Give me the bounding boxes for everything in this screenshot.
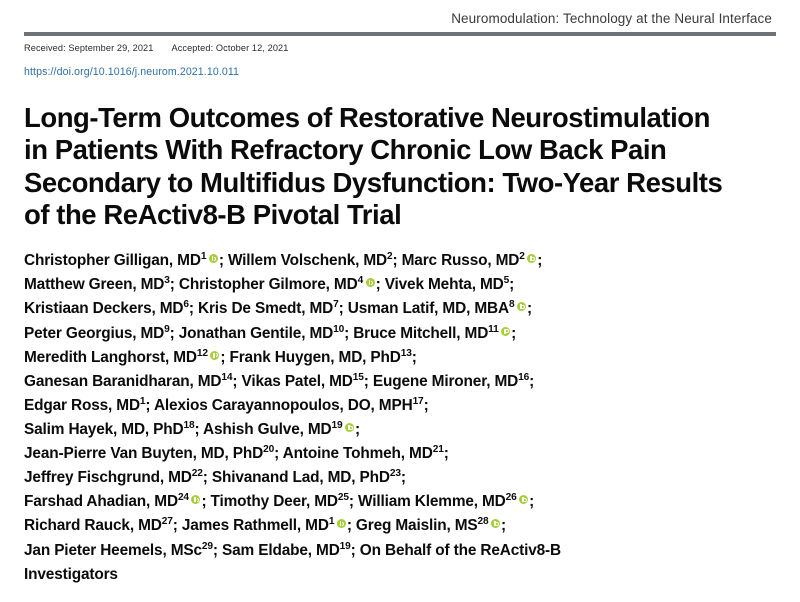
author-line: Salim Hayek, MD, PhD18; Ashish Gulve, MD… [24, 418, 776, 442]
author-separator: ; [349, 493, 358, 510]
affiliation-superscript: 13 [401, 348, 412, 359]
author-name: Kristiaan Deckers, MD [24, 300, 183, 317]
author-name: Antoine Tohmeh, MD [283, 445, 433, 462]
author-name: Vikas Patel, MD [242, 373, 353, 390]
author-line: Kristiaan Deckers, MD6; Kris De Smedt, M… [24, 297, 776, 321]
orcid-icon[interactable] [517, 302, 526, 311]
author-name: Peter Georgius, MD [24, 325, 164, 342]
affiliation-superscript: 8 [509, 299, 515, 310]
affiliation-superscript: 11 [488, 323, 498, 334]
author-name: Timothy Deer, MD [211, 493, 338, 510]
author-name: Christopher Gilligan, MD [24, 252, 201, 269]
author-separator: ; [376, 276, 385, 293]
page-title: Long-Term Outcomes of Restorative Neuros… [24, 102, 724, 231]
author-name: Investigators [24, 566, 118, 583]
author-separator: ; [355, 421, 360, 438]
author-name: On Behalf of the ReActiv8-B [360, 542, 561, 559]
affiliation-superscript: 1 [201, 251, 207, 262]
author-separator: ; [393, 252, 402, 269]
author-separator: ; [203, 469, 212, 486]
author-name: Jean-Pierre Van Buyten, MD, PhD [24, 445, 263, 462]
author-line: Richard Rauck, MD27; James Rathmell, MD1… [24, 514, 776, 538]
affiliation-superscript: 14 [221, 372, 232, 383]
author-line: Edgar Ross, MD1; Alexios Carayannopoulos… [24, 394, 776, 418]
author-separator: ; [195, 421, 204, 438]
affiliation-superscript: 12 [197, 348, 208, 359]
author-name: Jonathan Gentile, MD [179, 325, 333, 342]
author-name: William Klemme, MD [358, 493, 506, 510]
received-date: Received: September 29, 2021 [24, 43, 153, 53]
affiliation-superscript: 2 [519, 251, 525, 262]
orcid-icon[interactable] [191, 495, 200, 504]
author-name: Meredith Langhorst, MD [24, 349, 197, 366]
author-line: Jeffrey Fischgrund, MD22; Shivanand Lad,… [24, 466, 776, 490]
author-separator: ; [274, 445, 283, 462]
author-separator: ; [170, 325, 179, 342]
author-name: Ashish Gulve, MD [203, 421, 331, 438]
author-name: Sam Eldabe, MD [222, 542, 340, 559]
affiliation-superscript: 26 [506, 492, 517, 503]
orcid-icon[interactable] [501, 327, 510, 336]
affiliation-superscript: 29 [202, 540, 213, 551]
author-separator: ; [529, 373, 534, 390]
author-separator: ; [364, 373, 373, 390]
paper-title-page: Neuromodulation: Technology at the Neura… [0, 0, 800, 602]
affiliation-superscript: 21 [433, 444, 444, 455]
article-dates: Received: September 29, 2021Accepted: Oc… [24, 43, 776, 53]
author-name: Frank Huygen, MD, PhD [229, 349, 400, 366]
affiliation-superscript: 1 [329, 516, 335, 527]
author-name: Greg Maislin, MS [356, 517, 478, 534]
author-list: Christopher Gilligan, MD1; Willem Volsch… [24, 249, 776, 587]
author-name: Marc Russo, MD [402, 252, 520, 269]
author-name: Edgar Ross, MD [24, 397, 140, 414]
author-separator: ; [444, 445, 449, 462]
author-separator: ; [501, 517, 506, 534]
author-separator: ; [170, 276, 179, 293]
author-line: Investigators [24, 563, 776, 587]
author-name: Willem Volschenk, MD [228, 252, 387, 269]
author-line: Christopher Gilligan, MD1; Willem Volsch… [24, 249, 776, 273]
author-separator: ; [529, 493, 534, 510]
author-line: Jean-Pierre Van Buyten, MD, PhD20; Antoi… [24, 442, 776, 466]
author-separator: ; [537, 252, 542, 269]
affiliation-superscript: 19 [340, 540, 351, 551]
author-name: Usman Latif, MD, MBA [348, 300, 509, 317]
orcid-icon[interactable] [527, 254, 536, 263]
author-separator: ; [347, 517, 356, 534]
author-line: Peter Georgius, MD9; Jonathan Gentile, M… [24, 322, 776, 346]
orcid-icon[interactable] [519, 495, 528, 504]
author-name: James Rathmell, MD [182, 517, 329, 534]
author-name: Jan Pieter Heemels, MSc [24, 542, 202, 559]
orcid-icon[interactable] [337, 519, 346, 528]
author-separator: ; [189, 300, 198, 317]
author-name: Alexios Carayannopoulos, DO, MPH [154, 397, 413, 414]
author-name: Richard Rauck, MD [24, 517, 162, 534]
affiliation-superscript: 28 [478, 516, 489, 527]
orcid-icon[interactable] [209, 254, 218, 263]
author-separator: ; [527, 300, 532, 317]
author-separator: ; [509, 276, 514, 293]
author-name: Ganesan Baranidharan, MD [24, 373, 221, 390]
author-separator: ; [145, 397, 154, 414]
author-line: Ganesan Baranidharan, MD14; Vikas Patel,… [24, 370, 776, 394]
author-separator: ; [219, 252, 228, 269]
author-separator: ; [201, 493, 210, 510]
author-name: Eugene Mironer, MD [373, 373, 518, 390]
affiliation-superscript: 20 [263, 444, 274, 455]
author-separator: ; [232, 373, 241, 390]
author-line: Jan Pieter Heemels, MSc29; Sam Eldabe, M… [24, 539, 776, 563]
header-divider-rule [24, 32, 776, 36]
author-name: Christopher Gilmore, MD [179, 276, 358, 293]
affiliation-superscript: 18 [184, 420, 195, 431]
author-separator: ; [339, 300, 348, 317]
orcid-icon[interactable] [491, 519, 500, 528]
author-name: Jeffrey Fischgrund, MD [24, 469, 192, 486]
author-separator: ; [424, 397, 429, 414]
author-name: Matthew Green, MD [24, 276, 164, 293]
author-separator: ; [344, 325, 353, 342]
affiliation-superscript: 22 [192, 468, 203, 479]
author-name: Vivek Mehta, MD [385, 276, 504, 293]
affiliation-superscript: 19 [332, 420, 343, 431]
author-separator: ; [351, 542, 360, 559]
author-separator: ; [412, 349, 417, 366]
orcid-icon[interactable] [345, 423, 354, 432]
affiliation-superscript: 10 [333, 323, 344, 334]
author-line: Meredith Langhorst, MD12; Frank Huygen, … [24, 346, 776, 370]
doi-link[interactable]: https://doi.org/10.1016/j.neurom.2021.10… [24, 66, 239, 78]
accepted-date: Accepted: October 12, 2021 [171, 43, 288, 53]
author-separator: ; [173, 517, 182, 534]
affiliation-superscript: 25 [338, 492, 349, 503]
author-line: Farshad Ahadian, MD24; Timothy Deer, MD2… [24, 490, 776, 514]
author-separator: ; [213, 542, 222, 559]
author-name: Salim Hayek, MD, PhD [24, 421, 184, 438]
orcid-icon[interactable] [210, 351, 219, 360]
author-name: Bruce Mitchell, MD [353, 325, 488, 342]
orcid-icon[interactable] [366, 278, 375, 287]
affiliation-superscript: 16 [518, 372, 529, 383]
author-name: Shivanand Lad, MD, PhD [212, 469, 390, 486]
affiliation-superscript: 24 [178, 492, 189, 503]
author-name: Farshad Ahadian, MD [24, 493, 178, 510]
author-line: Matthew Green, MD3; Christopher Gilmore,… [24, 273, 776, 297]
affiliation-superscript: 4 [358, 275, 364, 286]
author-separator: ; [511, 325, 516, 342]
author-separator: ; [401, 469, 406, 486]
journal-running-head: Neuromodulation: Technology at the Neura… [24, 0, 776, 26]
affiliation-superscript: 27 [162, 516, 173, 527]
affiliation-superscript: 15 [353, 372, 364, 383]
author-name: Kris De Smedt, MD [198, 300, 333, 317]
affiliation-superscript: 23 [390, 468, 401, 479]
affiliation-superscript: 17 [413, 396, 424, 407]
